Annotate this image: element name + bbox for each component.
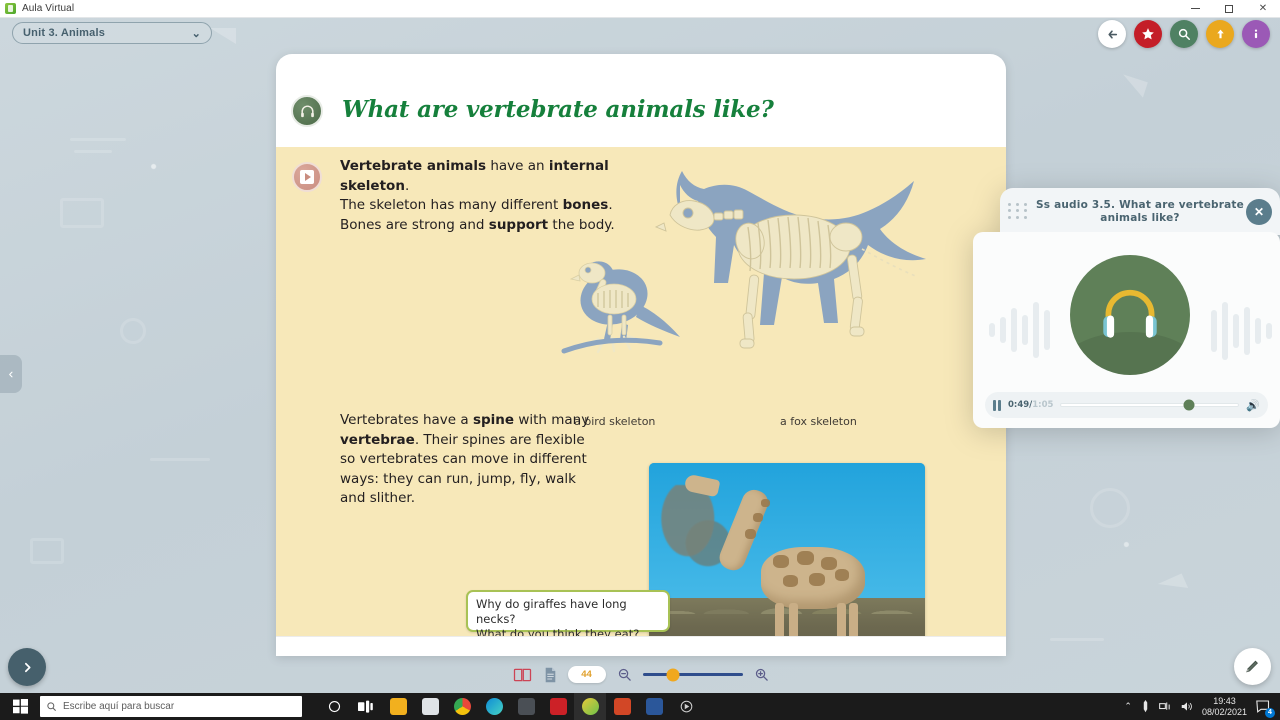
- para1-text-e: Bones are strong and: [340, 217, 489, 233]
- para1-text-d: .: [608, 197, 612, 213]
- system-tray: ⌃ 19:43 08/02/2021 4: [1124, 696, 1280, 718]
- para1-text-c: The skeleton has many different: [340, 197, 563, 213]
- audio-disc: [1070, 255, 1190, 375]
- cortana-icon[interactable]: [318, 693, 350, 720]
- sidebar-toggle-tab[interactable]: [0, 355, 22, 393]
- magnifier-icon: [1177, 27, 1191, 41]
- para2-text-b: with many: [514, 412, 589, 428]
- word-icon[interactable]: [638, 693, 670, 720]
- headphones-icon[interactable]: [291, 95, 323, 127]
- bottom-toolbar: 44: [0, 656, 1280, 693]
- waveform-right: [1211, 302, 1272, 360]
- para1-bold-vertebrate-animals: Vertebrate animals: [340, 158, 486, 174]
- audio-current-time: 0:49/: [1008, 400, 1032, 410]
- google-chrome-icon[interactable]: [446, 693, 478, 720]
- microsoft-store-icon[interactable]: [414, 693, 446, 720]
- windows-start-icon[interactable]: [0, 699, 40, 714]
- book-page: What are vertebrate animals like? Verteb…: [276, 54, 1006, 656]
- app-favicon-icon: [5, 3, 16, 14]
- para2-bold-vertebrae: vertebrae: [340, 432, 415, 448]
- search-icon: [46, 701, 57, 712]
- zoom-slider[interactable]: [643, 668, 743, 682]
- window-title: Aula Virtual: [22, 3, 74, 14]
- audio-player-title: Ss audio 3.5. What are vertebrate animal…: [1034, 199, 1246, 224]
- audio-player-header: Ss audio 3.5. What are vertebrate animal…: [1000, 188, 1280, 235]
- waveform-left: [989, 302, 1050, 358]
- audio-controls-bar: 0:49/1:05 🔊: [985, 392, 1268, 418]
- page-number-field[interactable]: 44: [568, 666, 606, 683]
- zoom-out-icon[interactable]: [617, 667, 632, 682]
- cortana-glyph-icon: [327, 699, 342, 714]
- arrow-up-icon: [1214, 28, 1227, 41]
- double-page-glyph-icon: [512, 667, 533, 683]
- para2-bold-spine: spine: [473, 412, 514, 428]
- start-glyph-icon: [13, 699, 28, 714]
- media-player-icon[interactable]: [670, 693, 702, 720]
- zoom-out-glyph-icon: [617, 667, 632, 682]
- double-page-icon[interactable]: [512, 667, 533, 683]
- pause-icon[interactable]: [993, 400, 1001, 411]
- pdf-glyph-icon: [550, 698, 567, 715]
- play-button-icon[interactable]: [292, 162, 322, 192]
- file-explorer-icon[interactable]: [382, 693, 414, 720]
- clock-time: 19:43: [1202, 696, 1247, 707]
- aula-virtual-glyph-icon: [582, 698, 599, 715]
- file-explorer-glyph-icon: [390, 698, 407, 715]
- taskbar-clock[interactable]: 19:43 08/02/2021: [1202, 696, 1247, 718]
- para1-text-b: .: [405, 178, 409, 194]
- unit-selector-label: Unit 3. Animals: [23, 27, 105, 39]
- pdf-reader-icon[interactable]: [542, 693, 574, 720]
- task-view-icon[interactable]: [350, 693, 382, 720]
- zoom-slider-track: [643, 673, 743, 676]
- paragraph-two: Vertebrates have a spine with many verte…: [340, 411, 602, 509]
- pen-icon[interactable]: [1141, 700, 1150, 713]
- microsoft-edge-icon[interactable]: [478, 693, 510, 720]
- para1-bold-support: support: [489, 217, 548, 233]
- edge-glyph-icon: [486, 698, 503, 715]
- chrome-glyph-icon: [454, 698, 471, 715]
- headphones-icon: [1094, 278, 1166, 350]
- close-icon[interactable]: ✕: [1246, 199, 1272, 225]
- powerpoint-glyph-icon: [614, 698, 631, 715]
- powerpoint-icon[interactable]: [606, 693, 638, 720]
- taskbar-search-box[interactable]: Escribe aquí para buscar: [40, 696, 302, 717]
- window-controls: ✕: [1178, 0, 1280, 18]
- para1-text-f: the body.: [548, 217, 615, 233]
- chevron-up-icon[interactable]: ⌃: [1124, 701, 1132, 712]
- para2-text-a: Vertebrates have a: [340, 412, 473, 428]
- back-button[interactable]: [1098, 20, 1126, 48]
- chevron-down-icon: ⌄: [192, 27, 201, 40]
- arrow-left-icon: [1106, 28, 1119, 41]
- question-callout: Why do giraffes have long necks? What do…: [466, 590, 670, 632]
- question-line-1: Why do giraffes have long necks?: [476, 597, 660, 627]
- close-button[interactable]: ✕: [1246, 0, 1280, 18]
- audio-duration: 1:05: [1032, 400, 1053, 410]
- single-page-icon[interactable]: [544, 667, 557, 683]
- fox-skeleton-illustration: [644, 155, 944, 366]
- network-icon[interactable]: [1159, 701, 1172, 712]
- audio-progress-track[interactable]: [1060, 403, 1239, 407]
- para1-text-a: have an: [486, 158, 549, 174]
- clock-date: 08/02/2021: [1202, 707, 1247, 718]
- page-title: What are vertebrate animals like?: [342, 96, 774, 123]
- aula-virtual-icon[interactable]: [574, 693, 606, 720]
- top-toolbar: [1098, 20, 1270, 48]
- favorites-button[interactable]: [1134, 20, 1162, 48]
- taskbar-search-placeholder: Escribe aquí para buscar: [63, 701, 174, 712]
- play-glyph-icon: [300, 170, 314, 184]
- star-icon: [1141, 27, 1155, 41]
- task-view-glyph-icon: [358, 700, 374, 714]
- caption-fox-skeleton: a fox skeleton: [780, 415, 857, 428]
- para1-bold-bones: bones: [563, 197, 609, 213]
- info-icon: [1249, 27, 1263, 41]
- windows-taskbar: Escribe aquí para buscar: [0, 693, 1280, 720]
- scratch-icon[interactable]: [510, 693, 542, 720]
- store-glyph-icon: [422, 698, 439, 715]
- lesson-content-panel: Vertebrate animals have an internal skel…: [276, 147, 1006, 636]
- audio-progress-knob[interactable]: [1183, 400, 1194, 411]
- maximize-button[interactable]: [1212, 0, 1246, 18]
- upload-button[interactable]: [1206, 20, 1234, 48]
- volume-icon[interactable]: 🔊: [1246, 399, 1260, 412]
- notification-count: 4: [1265, 708, 1275, 718]
- zoom-slider-knob[interactable]: [666, 668, 679, 681]
- search-button[interactable]: [1170, 20, 1198, 48]
- page-header: What are vertebrate animals like?: [276, 54, 1006, 147]
- chevron-left-icon: [7, 368, 15, 381]
- scratch-glyph-icon: [518, 698, 535, 715]
- zoom-in-glyph-icon: [754, 667, 769, 682]
- action-center-icon[interactable]: 4: [1256, 699, 1272, 715]
- zoom-in-icon[interactable]: [754, 667, 769, 682]
- taskbar-app-list: [318, 693, 702, 720]
- headphones-glyph-icon: [299, 103, 316, 120]
- giraffe-photo: [649, 463, 925, 656]
- minimize-button[interactable]: [1178, 0, 1212, 18]
- page-number-value: 44: [581, 669, 592, 680]
- drag-dots-icon[interactable]: [1008, 203, 1030, 221]
- single-page-glyph-icon: [544, 667, 557, 683]
- word-glyph-icon: [646, 698, 663, 715]
- media-player-glyph-icon: [679, 699, 694, 714]
- window-titlebar: Aula Virtual ✕: [0, 0, 1280, 18]
- info-button[interactable]: [1242, 20, 1270, 48]
- paragraph-one: Vertebrate animals have an internal skel…: [340, 157, 670, 235]
- page-footer: [276, 636, 1006, 656]
- audio-player-body: 0:49/1:05 🔊: [973, 232, 1280, 428]
- screen-root: Aula Virtual ✕ Unit 3. Animals ⌄: [0, 0, 1280, 720]
- volume-icon[interactable]: [1181, 701, 1193, 712]
- audio-player-popup: Ss audio 3.5. What are vertebrate animal…: [973, 188, 1280, 428]
- unit-selector[interactable]: Unit 3. Animals ⌄: [12, 22, 212, 44]
- audio-time: 0:49/1:05: [1008, 400, 1053, 410]
